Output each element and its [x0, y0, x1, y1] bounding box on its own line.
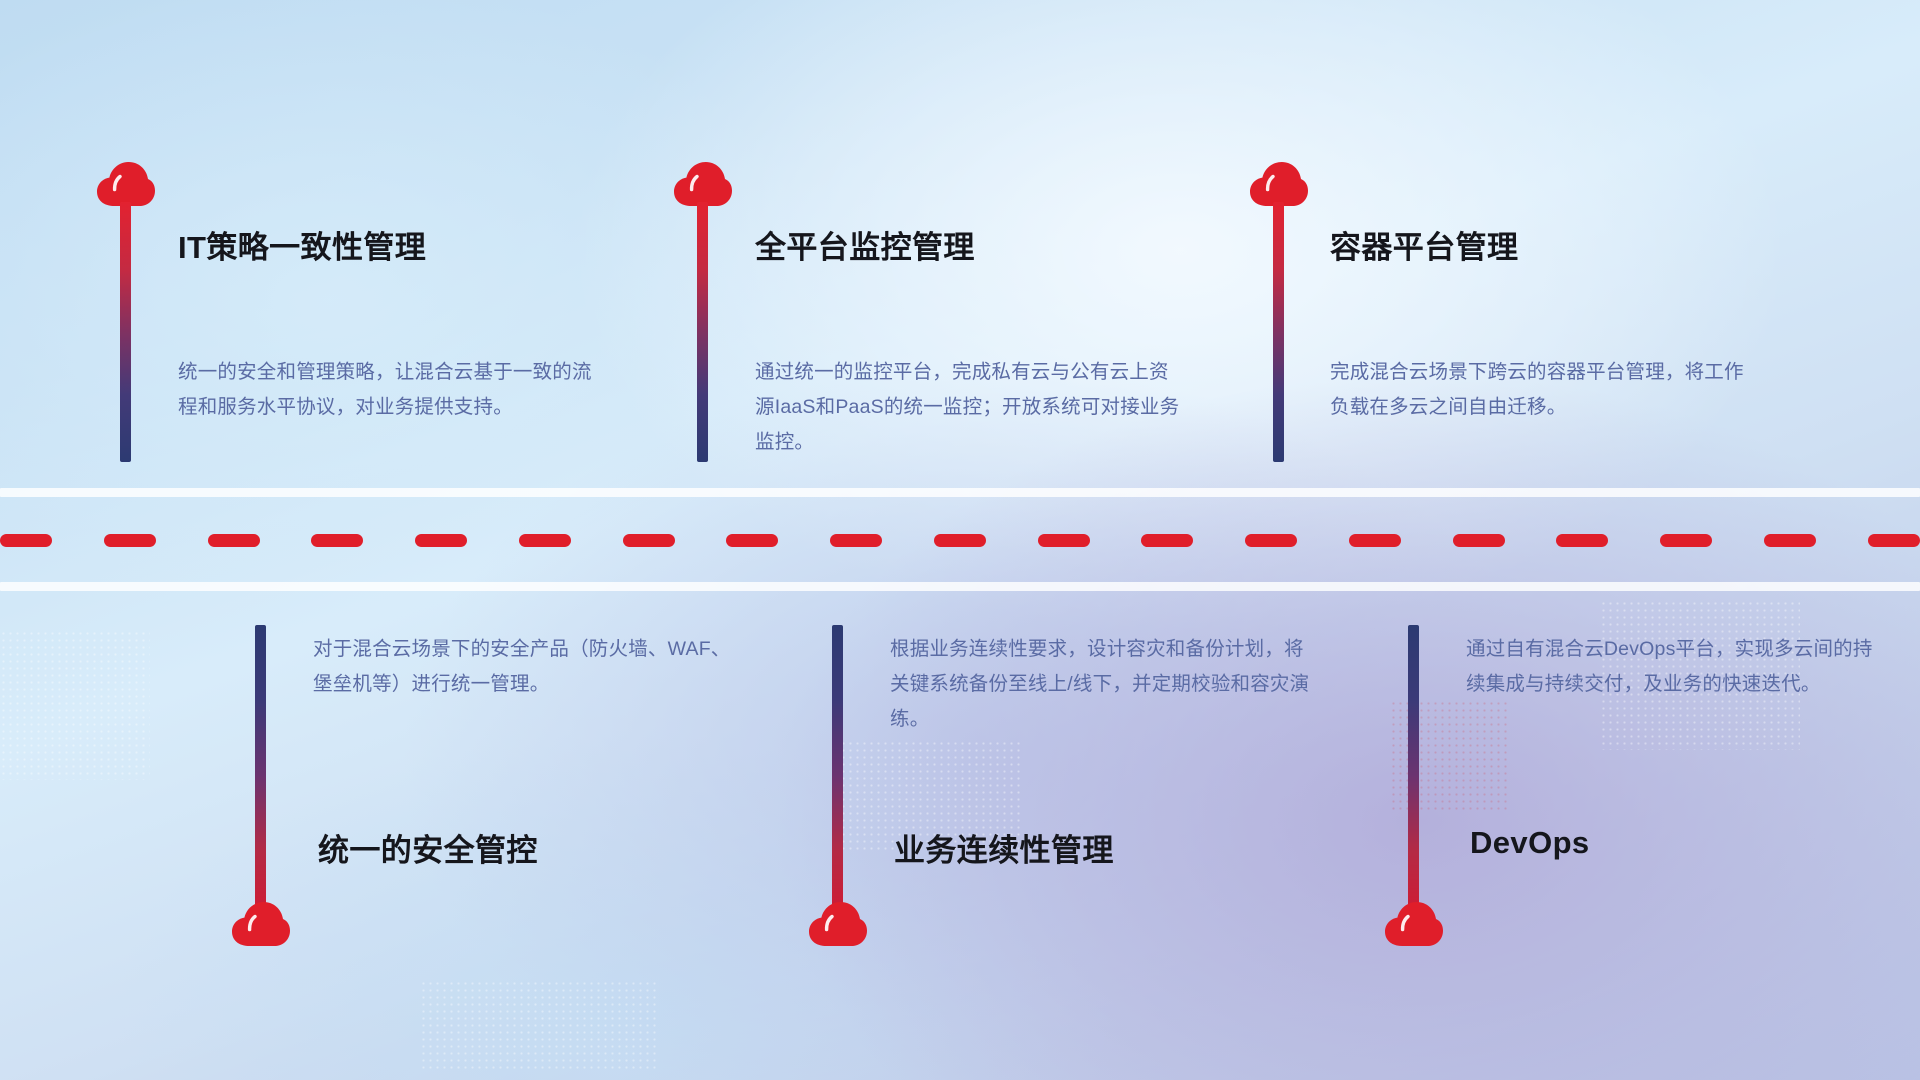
dash-segment [1245, 534, 1297, 547]
divider-rule-top [0, 488, 1920, 497]
dash-segment [415, 534, 467, 547]
accent-bar [120, 202, 131, 462]
cloud-icon [95, 160, 157, 208]
cloud-icon [1248, 160, 1310, 208]
accent-bar [832, 625, 843, 915]
cloud-icon [1383, 900, 1445, 948]
divider-rule-bottom [0, 582, 1920, 591]
cloud-icon [672, 160, 734, 208]
dash-segment [726, 534, 778, 547]
dash-segment [104, 534, 156, 547]
dash-segment [1764, 534, 1816, 547]
card-description: 对于混合云场景下的安全产品（防火墙、WAF、堡垒机等）进行统一管理。 [313, 632, 733, 702]
dash-segment [1660, 534, 1712, 547]
card-title: IT策略一致性管理 [178, 222, 426, 267]
card-title: 全平台监控管理 [755, 222, 975, 267]
infographic-canvas: IT策略一致性管理 统一的安全和管理策略，让混合云基于一致的流程和服务水平协议，… [0, 0, 1920, 1080]
card-title: DevOps [1470, 825, 1590, 861]
dot-texture-left [0, 630, 150, 780]
card-description: 完成混合云场景下跨云的容器平台管理，将工作负载在多云之间自由迁移。 [1330, 355, 1750, 425]
section-divider [0, 488, 1920, 603]
cloud-icon [807, 900, 869, 948]
card-description: 根据业务连续性要求，设计容灾和备份计划，将关键系统备份至线上/线下，并定期校验和… [890, 632, 1310, 737]
card-description: 通过自有混合云DevOps平台，实现多云间的持续集成与持续交付，及业务的快速迭代… [1466, 632, 1886, 702]
dot-texture-bottom [420, 980, 660, 1070]
dash-segment [830, 534, 882, 547]
card-description: 通过统一的监控平台，完成私有云与公有云上资源IaaS和PaaS的统一监控；开放系… [755, 355, 1185, 460]
card-title: 业务连续性管理 [894, 825, 1114, 870]
dash-segment [1556, 534, 1608, 547]
dash-segment [311, 534, 363, 547]
accent-bar [1273, 202, 1284, 462]
accent-bar [697, 202, 708, 462]
dash-segment [1868, 534, 1920, 547]
dash-segment [934, 534, 986, 547]
card-description: 统一的安全和管理策略，让混合云基于一致的流程和服务水平协议，对业务提供支持。 [178, 355, 598, 425]
accent-bar [1408, 625, 1419, 915]
dash-segment [1453, 534, 1505, 547]
accent-bar [255, 625, 266, 915]
dash-segment [519, 534, 571, 547]
card-title: 容器平台管理 [1330, 222, 1518, 267]
dash-segment [1349, 534, 1401, 547]
dash-segment [1038, 534, 1090, 547]
cloud-icon [230, 900, 292, 948]
dash-segment [1141, 534, 1193, 547]
dash-segment [0, 534, 52, 547]
dash-segment [623, 534, 675, 547]
card-title: 统一的安全管控 [318, 825, 538, 870]
dash-segment [208, 534, 260, 547]
divider-dashed-line [0, 533, 1920, 547]
